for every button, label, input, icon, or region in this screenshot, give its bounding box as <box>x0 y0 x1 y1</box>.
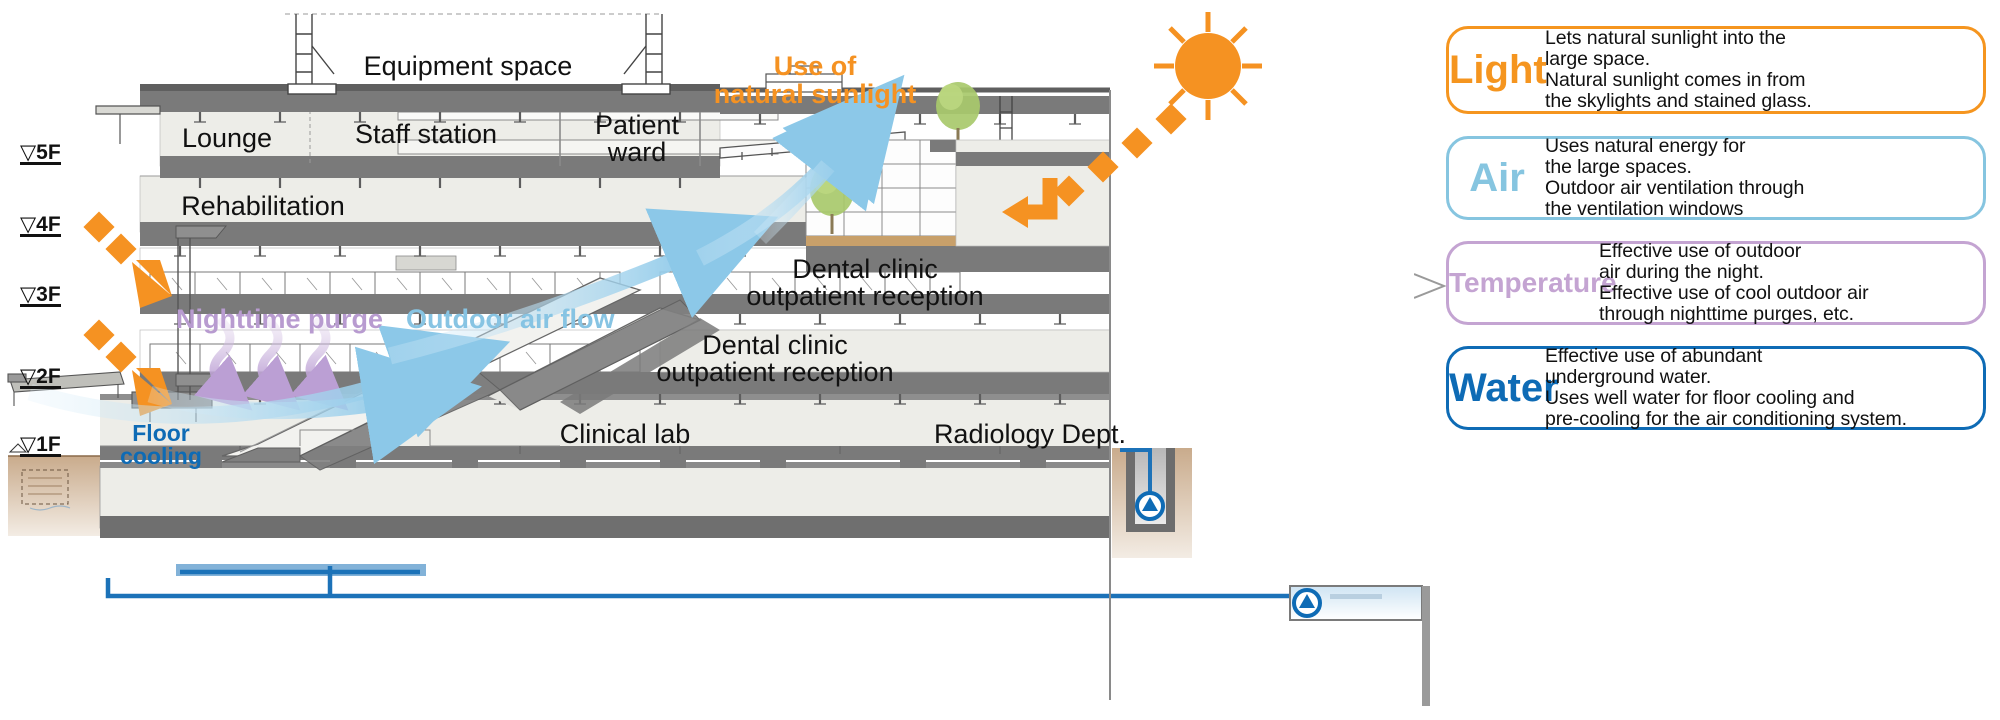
room-label-patient-ward: Patient ward <box>584 112 690 166</box>
room-label-staff-station: Staff station <box>336 120 516 148</box>
legend-text-light: Lets natural sunlight into the large spa… <box>1545 28 1983 112</box>
room-label-equipment-space: Equipment space <box>358 52 578 80</box>
room-label-dental-clinic-lower: Dental clinic outpatient reception <box>650 332 900 386</box>
legend-text-air: Uses natural energy for the large spaces… <box>1545 136 1983 220</box>
ground-soil <box>8 444 100 536</box>
floor-marker-1f-label: ▽1F <box>20 433 61 456</box>
sun-icon <box>1154 12 1262 120</box>
legend-item-temperature[interactable]: Temperature Effective use of outdoor air… <box>1446 241 1986 325</box>
floor-marker-3f-label: ▽3F <box>20 283 61 306</box>
floor-marker-2f: ▽2F <box>20 364 61 389</box>
floor-marker-1f: ▽1F <box>20 432 61 457</box>
room-label-radiology-dept: Radiology Dept. <box>930 420 1130 448</box>
room-label-clinical-lab: Clinical lab <box>540 420 710 448</box>
legend-item-air[interactable]: Air Uses natural energy for the large sp… <box>1446 136 1986 220</box>
annotation-use-of-natural-sunlight: Use of natural sunlight <box>700 52 930 109</box>
legend-key-light: Light <box>1449 48 1545 93</box>
annotation-floor-cooling: Floor cooling <box>118 422 204 469</box>
legend-text-temperature: Effective use of outdoor air during the … <box>1599 241 1983 325</box>
floor-marker-3f: ▽3F <box>20 282 61 307</box>
floor-marker-4f-label: ▽4F <box>20 213 61 236</box>
well-diagram <box>1112 448 1192 558</box>
temperature-callout-arrow-icon <box>1414 272 1454 302</box>
legend-item-light[interactable]: Light Lets natural sunlight into the lar… <box>1446 26 1986 114</box>
floor-marker-5f: ▽5F <box>20 140 61 165</box>
pump-icon-well <box>1137 493 1163 519</box>
floor-marker-5f-label: ▽5F <box>20 141 61 164</box>
floor-cooling-band <box>176 564 426 576</box>
foundation <box>100 452 1110 538</box>
floor-marker-4f: ▽4F <box>20 212 61 237</box>
legend-key-temperature: Temperature <box>1449 267 1599 299</box>
annotation-nighttime-purge: Nighttime purge <box>176 305 383 333</box>
well-shaft <box>1422 586 1430 706</box>
tree-icon <box>936 82 980 142</box>
legend-text-water: Effective use of abundant underground wa… <box>1545 346 1983 430</box>
room-label-dental-clinic-upper: Dental clinic outpatient reception <box>740 256 990 310</box>
diagram-root: ▽5F ▽4F ▽3F ▽2F ▽1F Equipment space Loun… <box>0 0 2000 720</box>
legend-key-water: Water <box>1449 366 1545 411</box>
pump-icon-tank <box>1294 590 1320 616</box>
annotation-outdoor-air-flow: Outdoor air flow <box>406 305 615 333</box>
room-label-lounge: Lounge <box>172 124 282 152</box>
legend-item-water[interactable]: Water Effective use of abundant undergro… <box>1446 346 1986 430</box>
legend-key-air: Air <box>1449 156 1545 201</box>
room-label-rehabilitation: Rehabilitation <box>168 192 358 220</box>
floor-marker-2f-label: ▽2F <box>20 365 61 388</box>
